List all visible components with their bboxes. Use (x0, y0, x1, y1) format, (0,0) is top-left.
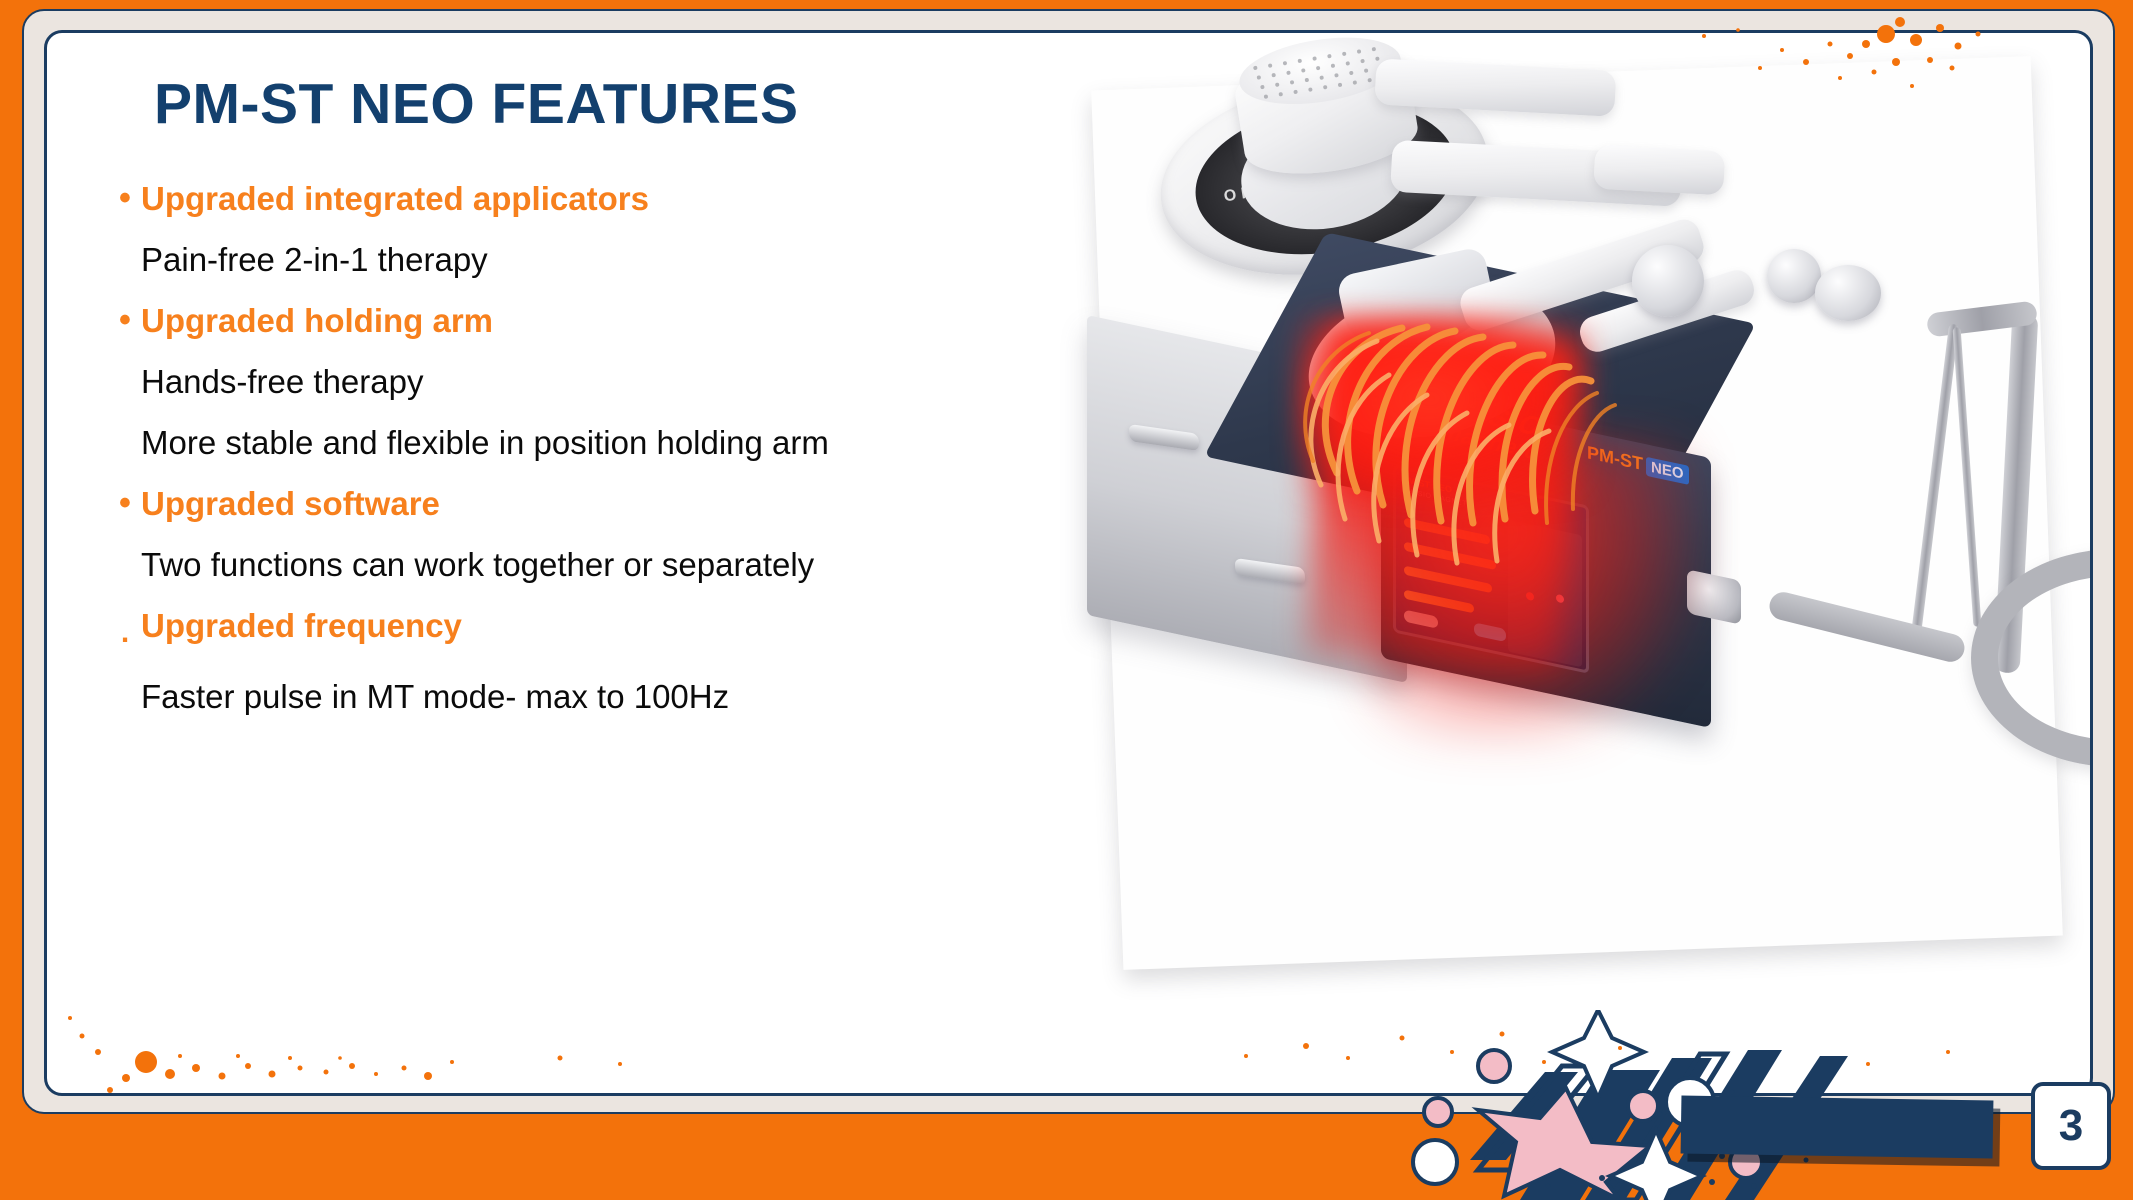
feature-bullet-heading: Upgraded frequency (141, 602, 462, 650)
unit-brand-line1: PHYSIO (1422, 390, 1560, 444)
features-text-column: PM-ST NEO FEATURES •Upgraded integrated … (109, 71, 1119, 734)
unit-touchscreen: PM-ST NEO PHYSIO MAGNETIC (1393, 464, 1589, 674)
arm-segment-1 (1456, 215, 1707, 334)
screen-model-tag: PM-ST NEO (1402, 474, 1452, 495)
feature-bullet-heading: Upgraded software (141, 480, 440, 528)
screen-indicator-1 (1526, 591, 1534, 601)
applicator-arm-upper (1374, 58, 1616, 116)
applicator-hub (1231, 38, 1423, 184)
unit-model-name: PM-ST (1587, 442, 1643, 474)
feature-bullet-detail: Faster pulse in MT mode- max to 100Hz (109, 673, 1119, 725)
unit-cable-port (1687, 569, 1741, 624)
screen-play-button (1474, 622, 1506, 642)
unit-model-badge: PM-STNEO (1587, 442, 1689, 485)
screen-slider-1 (1404, 518, 1490, 545)
feature-bullet-detail: Hands-free therapy (109, 358, 1119, 410)
arm-joint-1 (1632, 245, 1704, 317)
feature-bullet-heading: Upgraded integrated applicators (141, 175, 649, 223)
feature-bullet-detail-text: Faster pulse in MT mode- max to 100Hz (141, 673, 729, 721)
screen-slider-2 (1404, 542, 1496, 571)
red-glow-core (1295, 313, 1595, 503)
unit-side-panel (1087, 315, 1407, 683)
slide-content-card: MAGNETO PHYSIO PHYSIO (44, 30, 2093, 1096)
feature-bullet: •Upgraded integrated applicators (109, 175, 1119, 227)
holding-arm-group (1247, 263, 1887, 603)
feature-bullet-detail: More stable and flexible in position hol… (109, 419, 1119, 471)
applicator-hub-top (1235, 30, 1406, 114)
unit-brand-line2: magneto (1436, 421, 1545, 464)
features-bullet-list: •Upgraded integrated applicatorsPain-fre… (109, 175, 1119, 725)
slide-root: MAGNETO PHYSIO PHYSIO (0, 0, 2133, 1200)
feature-bullet-detail-text: Pain-free 2-in-1 therapy (141, 236, 488, 284)
cable-tail (1767, 589, 1968, 665)
unit-front-panel (1381, 388, 1711, 728)
bullet-marker-icon: • (109, 480, 141, 526)
mounted-applicator-body (1294, 261, 1570, 460)
mounted-applicator-cap (1336, 246, 1501, 361)
holding-column (1907, 313, 2093, 743)
feature-bullet-detail-text: Two functions can work together or separ… (141, 541, 814, 589)
column-strut-2 (1953, 327, 1982, 627)
feature-bullet-detail-text: Hands-free therapy (141, 358, 423, 406)
applicator-vent-dots (1246, 39, 1394, 105)
arm-joint-2 (1767, 249, 1821, 303)
bullet-marker-icon: • (109, 175, 141, 221)
arm-knob (1815, 265, 1881, 321)
applicator-arm-lower (1390, 140, 1682, 207)
arm-segment-2 (1576, 266, 1758, 356)
mounted-applicator (1294, 261, 1570, 460)
page-number: 3 (2031, 1082, 2111, 1170)
feature-bullet-heading: Upgraded holding arm (141, 297, 493, 345)
screen-right-pane (1508, 520, 1582, 668)
feature-bullet-detail-text: More stable and flexible in position hol… (141, 419, 829, 467)
feature-bullet: •Upgraded holding arm (109, 297, 1119, 349)
product-photo: MAGNETO PHYSIO PHYSIO (1067, 30, 2093, 1023)
product-scene: MAGNETO PHYSIO PHYSIO (1067, 30, 2093, 1023)
unit-handle-top (1128, 424, 1199, 451)
applicator-disc (1146, 58, 1502, 297)
therapy-unit: PHYSIO magneto PM-STNEO PM-ST NEO PHYSIO… (1087, 313, 1887, 733)
screen-stop-button (1404, 610, 1438, 629)
feature-bullet-detail: Two functions can work together or separ… (109, 541, 1119, 593)
column-vertical (1994, 313, 2039, 674)
red-glow-spread (1367, 443, 1697, 743)
bullet-marker-icon: . (109, 602, 141, 664)
applicator-inner-hole (1233, 106, 1416, 241)
applicator-ring-label: MAGNETO PHYSIO (1217, 153, 1434, 205)
magnetic-field-lines (1217, 223, 1677, 623)
column-top (1926, 300, 2038, 337)
unit-model-suffix: NEO (1646, 457, 1689, 485)
unit-brand-logo: PHYSIO magneto (1411, 390, 1561, 464)
feature-bullet: .Upgraded frequency (109, 602, 1119, 664)
page-title: PM-ST NEO FEATURES (154, 71, 1119, 137)
product-photo-card (1091, 56, 2063, 970)
feature-bullet-detail: Pain-free 2-in-1 therapy (109, 236, 1119, 288)
unit-handle-bottom (1234, 558, 1305, 585)
screen-subtitle: PHYSIO MAGNETIC (1402, 487, 1475, 509)
applicator-arm-tip (1593, 145, 1725, 196)
column-strut-1 (1909, 324, 1959, 653)
screen-indicator-2 (1556, 594, 1564, 604)
screen-slider-3 (1404, 566, 1492, 594)
bullet-marker-icon: • (109, 297, 141, 343)
cable-loop (1971, 549, 2093, 767)
unit-top-panel (1204, 232, 1756, 547)
feature-bullet: •Upgraded software (109, 480, 1119, 532)
applicator-detached: MAGNETO PHYSIO (1120, 30, 1773, 330)
footer-accent-bar (1681, 1096, 1994, 1159)
applicator-dark-ring: MAGNETO PHYSIO (1185, 85, 1467, 272)
red-light-beam (1306, 325, 1578, 672)
screen-slider-4 (1404, 590, 1474, 614)
